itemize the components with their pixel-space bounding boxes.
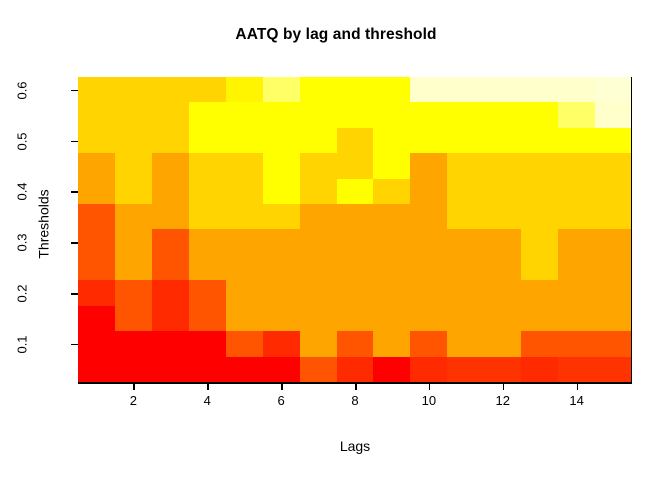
heatmap-cell [558,204,595,229]
y-axis-tick-label: 0.5 [14,132,29,150]
heatmap-cell [521,128,558,153]
heatmap-cell [115,357,152,382]
heatmap-cell [226,153,263,178]
heatmap-cell [558,357,595,382]
heatmap-cell [300,331,337,356]
heatmap-cell [373,306,410,331]
heatmap-cell [410,357,447,382]
heatmap-cell [558,229,595,254]
x-axis-tick-label: 2 [113,393,153,408]
heatmap-cell [189,255,226,280]
heatmap-cell [226,357,263,382]
heatmap-cell [521,77,558,102]
heatmap-cell [115,128,152,153]
heatmap-cell [300,306,337,331]
y-axis-tick-label: 0.4 [14,183,29,201]
y-axis-tick-label: 0.2 [14,284,29,302]
heatmap-cell [226,128,263,153]
heatmap-cell [373,204,410,229]
heatmap-cell [152,179,189,204]
heatmap-cell [152,331,189,356]
heatmap-cell [447,357,484,382]
heatmap-cell [263,153,300,178]
heatmap-cell [558,331,595,356]
heatmap-cell [410,255,447,280]
heatmap-cell [595,153,632,178]
heatmap-cell [484,102,521,127]
heatmap-cell [263,306,300,331]
y-axis-tick-label: 0.1 [14,335,29,353]
heatmap-cell [447,77,484,102]
y-axis-title-wrap: Thresholds [0,216,184,234]
heatmap-cell [300,204,337,229]
heatmap-cell [595,128,632,153]
heatmap-cell [152,153,189,178]
heatmap-cell [263,229,300,254]
heatmap-cell [521,357,558,382]
heatmap-cell [521,102,558,127]
heatmap-cell [115,77,152,102]
heatmap-cell [189,128,226,153]
x-axis-tick [133,383,135,390]
heatmap-cell [595,102,632,127]
heatmap-cell [226,102,263,127]
heatmap-cell [300,229,337,254]
heatmap-cell [484,77,521,102]
x-axis-tick [207,383,209,390]
heatmap-cell [410,128,447,153]
heatmap-cell [337,306,374,331]
heatmap-cell [300,357,337,382]
y-axis-title: Thresholds [36,189,52,258]
heatmap-cell [337,357,374,382]
heatmap-cell [484,306,521,331]
heatmap-cell [521,179,558,204]
x-axis-tick-label: 12 [483,393,523,408]
heatmap-cell [595,306,632,331]
heatmap-cell [373,280,410,305]
heatmap-cell [595,255,632,280]
y-axis-tick-label-wrap: 0.5 [0,133,62,149]
heatmap-cell [373,153,410,178]
heatmap-cell [189,306,226,331]
heatmap-cell [226,280,263,305]
y-axis-tick [71,141,78,143]
heatmap-cell [521,204,558,229]
heatmap-cell [300,128,337,153]
heatmap-cell [115,179,152,204]
y-axis-tick-label-wrap: 0.3 [0,234,62,250]
heatmap-cell [189,102,226,127]
heatmap-cell [558,102,595,127]
heatmap-cell [115,102,152,127]
heatmap-cell [115,153,152,178]
heatmap-cell [373,357,410,382]
heatmap-cell [484,280,521,305]
heatmap-cell [484,204,521,229]
heatmap-cell [484,128,521,153]
heatmap-cell [152,77,189,102]
y-axis-tick-label-wrap: 0.6 [0,82,62,98]
heatmap-cell [189,179,226,204]
x-axis-tick [577,383,579,390]
heatmap-cell [521,229,558,254]
heatmap-cell [300,255,337,280]
heatmap-cell [263,357,300,382]
heatmap-cell [226,204,263,229]
heatmap-cell [263,255,300,280]
heatmap-cell [189,331,226,356]
heatmap-cell [373,179,410,204]
heatmap-cell [447,229,484,254]
heatmap-cell [263,102,300,127]
x-axis-tick [429,383,431,390]
heatmap-cell [337,280,374,305]
heatmap-cell [337,179,374,204]
heatmap-cell [373,331,410,356]
heatmap-cell [521,153,558,178]
heatmap-cell [226,255,263,280]
x-axis-tick-label: 14 [557,393,597,408]
heatmap-cell [373,229,410,254]
heatmap-cell [226,179,263,204]
heatmap-cell [300,179,337,204]
heatmap-cell [189,280,226,305]
heatmap-cell [410,204,447,229]
y-axis-tick [71,242,78,244]
heatmap-cell [337,204,374,229]
heatmap-cell [447,153,484,178]
y-axis-tick-label-wrap: 0.2 [0,285,62,301]
heatmap-cell [447,128,484,153]
heatmap-cell [189,229,226,254]
heatmap-cell [595,179,632,204]
x-axis-tick [503,383,505,390]
heatmap-cell [410,229,447,254]
heatmap-cell [410,280,447,305]
y-axis-tick-label-wrap: 0.4 [0,183,62,199]
heatmap-cell [558,77,595,102]
y-axis-tick-label: 0.6 [14,81,29,99]
heatmap-cell [337,128,374,153]
heatmap-cell [410,77,447,102]
heatmap-cell [152,357,189,382]
x-axis-tick-label: 6 [261,393,301,408]
heatmap-cell [484,331,521,356]
heatmap-cell [447,102,484,127]
heatmap-cell [447,255,484,280]
heatmap-cell [263,331,300,356]
heatmap-cell [521,255,558,280]
heatmap-cell [300,153,337,178]
heatmap-cell [484,179,521,204]
heatmap-cell [410,102,447,127]
y-axis-tick-label: 0.3 [14,234,29,252]
heatmap-cell [152,102,189,127]
heatmap-cell [410,306,447,331]
heatmap-cell [447,204,484,229]
heatmap-cell [152,280,189,305]
heatmap-cell [226,306,263,331]
heatmap-cell [78,179,115,204]
y-axis-tick [71,90,78,92]
heatmap-cell [189,153,226,178]
heatmap-cell [263,179,300,204]
heatmap-cell [558,153,595,178]
heatmap-cell [337,77,374,102]
heatmap-cell [226,77,263,102]
y-axis-tick-label-wrap: 0.1 [0,336,62,352]
heatmap-cell [78,128,115,153]
heatmap-cell [558,280,595,305]
heatmap-cell [78,77,115,102]
heatmap-cell [595,77,632,102]
heatmap-cell [410,179,447,204]
heatmap-cell [263,128,300,153]
heatmap-cell [226,331,263,356]
x-axis-tick-label: 4 [187,393,227,408]
heatmap-cell [263,204,300,229]
heatmap-cell [115,280,152,305]
heatmap-cell [558,255,595,280]
heatmap-cell [410,153,447,178]
heatmap-cell [115,255,152,280]
heatmap-cell [78,102,115,127]
y-axis-line [631,77,633,383]
heatmap-cell [447,179,484,204]
heatmap-cell [447,280,484,305]
heatmap-cell [152,255,189,280]
y-axis-tick [71,191,78,193]
heatmap-cell [300,77,337,102]
heatmap-cell [558,179,595,204]
x-axis-tick [355,383,357,390]
heatmap-cell [115,306,152,331]
heatmap-cell [447,306,484,331]
heatmap-cell [337,331,374,356]
heatmap-cell [337,255,374,280]
y-axis-tick [71,293,78,295]
heatmap-cell [78,331,115,356]
heatmap-cell [484,255,521,280]
heatmap-cell [595,229,632,254]
heatmap-cell [595,331,632,356]
heatmap-cell [189,357,226,382]
heatmap-cell [447,331,484,356]
heatmap-cell [300,280,337,305]
heatmap-cell [189,77,226,102]
heatmap-cell [78,255,115,280]
heatmap-cell [595,280,632,305]
heatmap-cell [595,357,632,382]
heatmap-cell [300,102,337,127]
heatmap-cell [226,229,263,254]
heatmap-cell [521,306,558,331]
heatmap-cell [152,128,189,153]
heatmap-cell [373,255,410,280]
heatmap-cell [78,357,115,382]
heatmap-cell [484,229,521,254]
heatmap-cell [263,280,300,305]
heatmap-cell [189,204,226,229]
heatmap-cell [115,331,152,356]
heatmap-cell [373,102,410,127]
x-axis-tick [281,383,283,390]
heatmap-cell [484,153,521,178]
heatmap-cell [263,77,300,102]
heatmap-cell [373,77,410,102]
heatmap-cell [373,128,410,153]
page-title: AATQ by lag and threshold [0,26,672,44]
x-axis-title: Lags [78,438,632,454]
heatmap-cell [558,306,595,331]
heatmap-cell [410,331,447,356]
heatmap-cell [337,229,374,254]
heatmap-cell [558,128,595,153]
heatmap-cell [78,306,115,331]
heatmap-cell [152,306,189,331]
heatmap-cell [78,153,115,178]
heatmap-cell [337,102,374,127]
x-axis-tick-label: 8 [335,393,375,408]
heatmap-cell [521,331,558,356]
heatmap-cell [484,357,521,382]
heatmap-plot: AATQ by lag and threshold 2468101214 0.1… [0,0,672,480]
heatmap-cell [78,280,115,305]
heatmap-cell [337,153,374,178]
x-axis-tick-label: 10 [409,393,449,408]
y-axis-tick [71,344,78,346]
heatmap-cell [595,204,632,229]
heatmap-cell [521,280,558,305]
